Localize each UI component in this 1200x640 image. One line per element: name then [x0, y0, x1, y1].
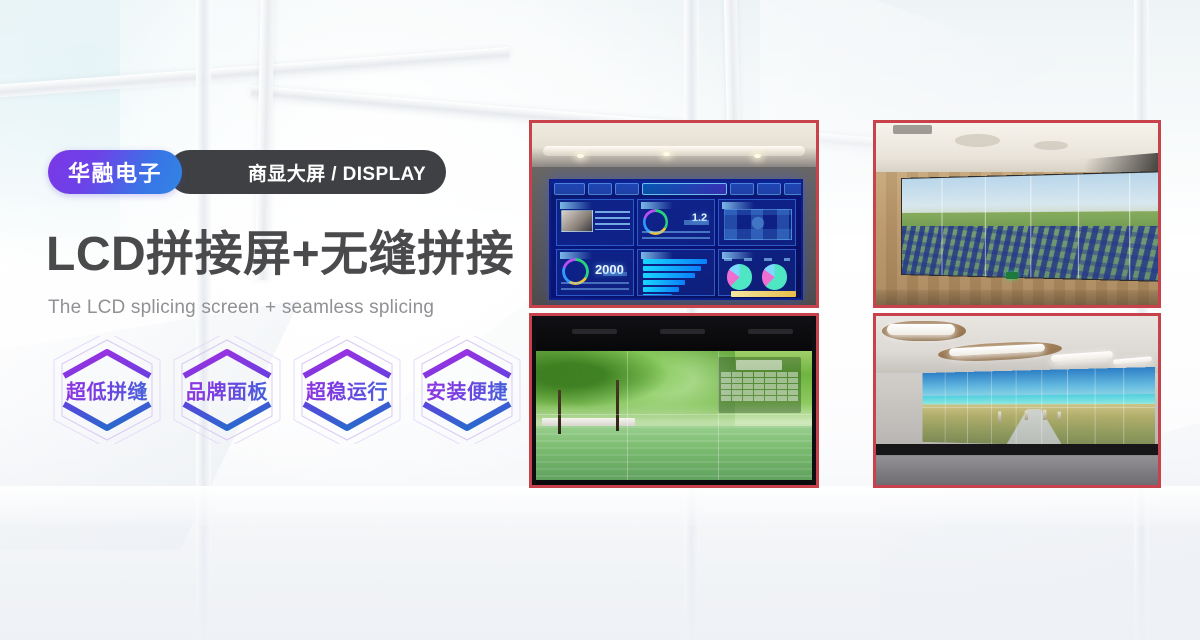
page-title: LCD拼接屏+无缝拼接 [46, 231, 514, 279]
photo-beach-boardwalk-video-wall [873, 313, 1161, 488]
feature-hexagon-0: 超低拼缝 [48, 336, 166, 444]
brand-pill-label: 华融电子 [68, 156, 162, 188]
category-pill-label: 商显大屏 / DISPLAY [248, 159, 426, 186]
feature-hexagon-row: 超低拼缝 品牌面板 超稳运行 [48, 336, 526, 444]
brand-pill: 华融电子 [48, 150, 182, 194]
feature-label: 超低拼缝 [48, 376, 166, 405]
dashboard-screen: 1.2 2000 [549, 179, 803, 299]
feature-hexagon-3: 安装便捷 [408, 336, 526, 444]
calendar-overlay [718, 357, 801, 414]
feature-label: 品牌面板 [168, 376, 286, 405]
feature-hexagon-1: 品牌面板 [168, 336, 286, 444]
photo-garden-scenery-video-wall [529, 313, 819, 488]
feature-label: 安装便捷 [408, 376, 526, 405]
beach-boardwalk-screen [922, 367, 1155, 448]
page-subtitle: The LCD splicing screen + seamless splic… [48, 297, 434, 319]
photo-solar-farm-video-wall [873, 120, 1161, 308]
feature-label: 超稳运行 [288, 376, 406, 405]
category-pill: 商显大屏 / DISPLAY [168, 150, 446, 194]
solar-farm-screen [901, 170, 1158, 281]
brand-badge-row: 商显大屏 / DISPLAY 华融电子 [48, 150, 182, 194]
photo-dashboard-video-wall: 1.2 2000 [529, 120, 819, 308]
product-banner: 商显大屏 / DISPLAY 华融电子 LCD拼接屏+无缝拼接 The LCD … [0, 0, 1200, 640]
feature-hexagon-2: 超稳运行 [288, 336, 406, 444]
banner-copy: 商显大屏 / DISPLAY 华融电子 LCD拼接屏+无缝拼接 The LCD … [0, 0, 520, 640]
garden-screen [536, 351, 811, 479]
